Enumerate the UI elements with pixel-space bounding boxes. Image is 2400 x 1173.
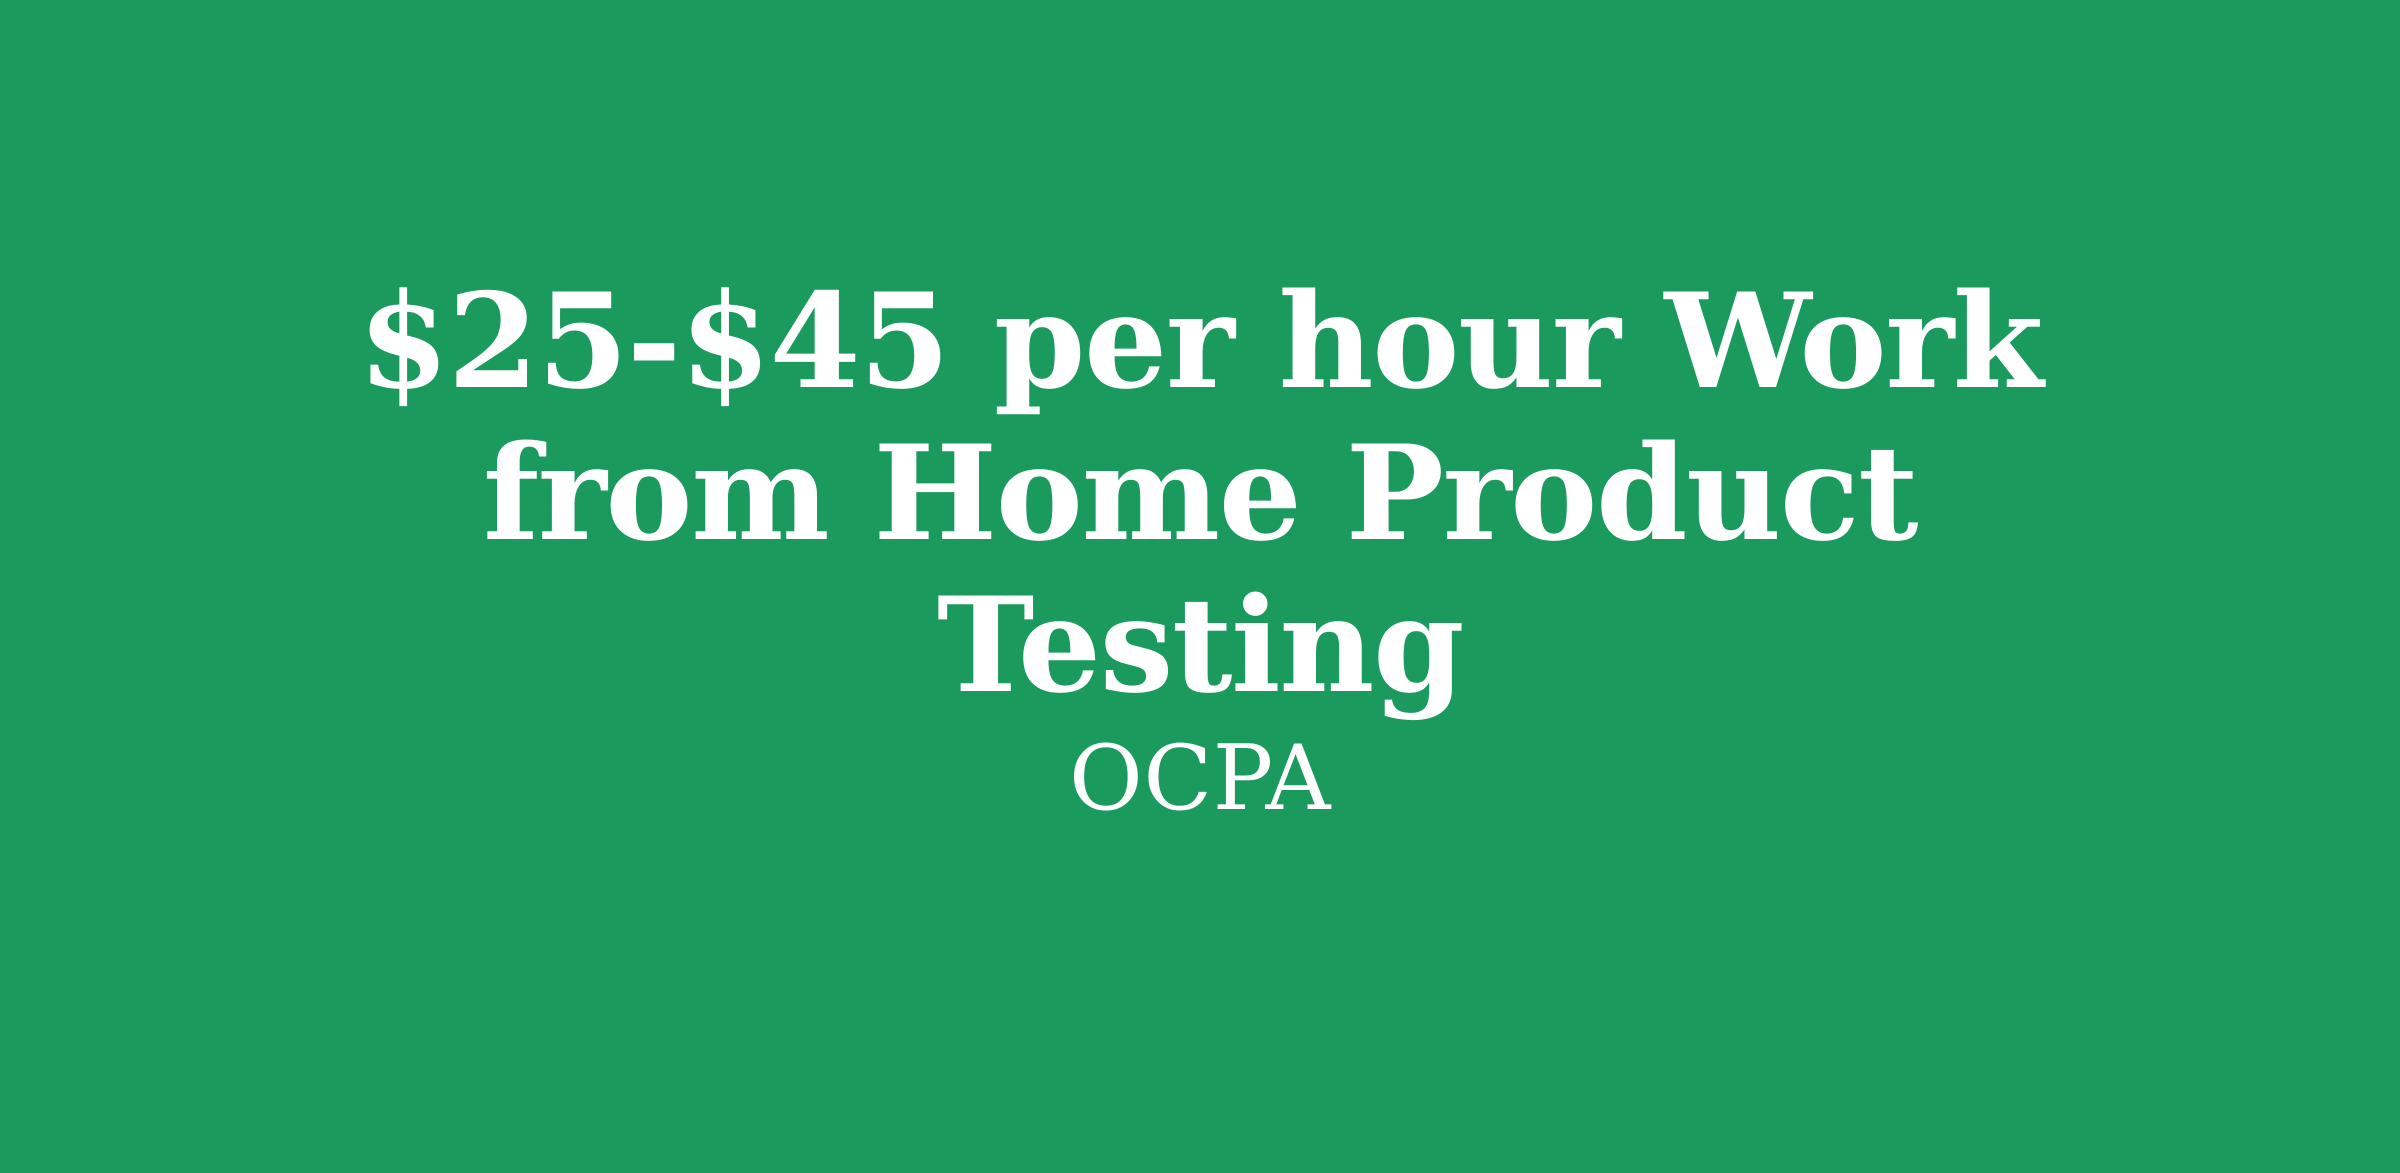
subtitle-source-name: OCPA bbox=[300, 727, 2100, 831]
card-text-block: $25-$45 per hour Work from Home Product … bbox=[300, 265, 2100, 831]
headline: $25-$45 per hour Work from Home Product … bbox=[300, 265, 2100, 721]
social-share-card: $25-$45 per hour Work from Home Product … bbox=[0, 0, 2400, 1173]
